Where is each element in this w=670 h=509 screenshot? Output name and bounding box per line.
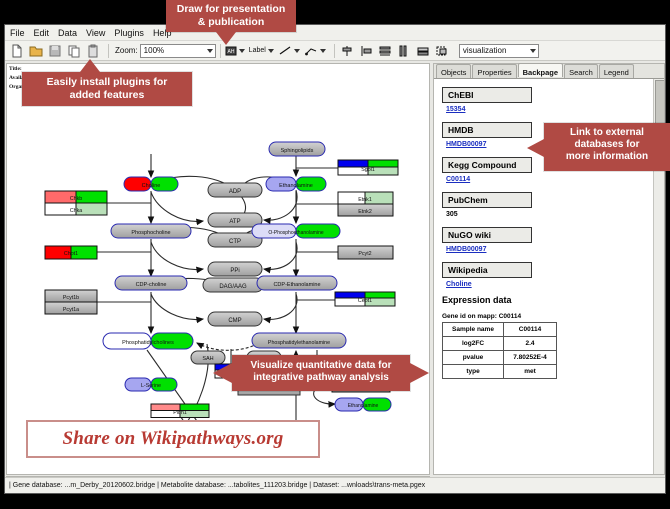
- node-label: PPi: [230, 268, 239, 274]
- node-cdp-ethanolamine: CDP-Ethanolamine: [257, 276, 337, 290]
- menu-item-edit[interactable]: Edit: [34, 28, 50, 38]
- node-pcyt2: Pcyt2: [338, 246, 393, 259]
- node-dag-aag: DAG/AAG: [203, 278, 263, 292]
- expr-value: 2.4: [504, 337, 557, 351]
- status-bar: | Gene database: ...m_Derby_20120602.bri…: [5, 477, 666, 493]
- table-row: type met: [443, 365, 557, 379]
- toolbar-separator: [108, 44, 109, 58]
- toolbar-separator: [220, 44, 221, 58]
- node-cmp: CMP: [208, 312, 262, 326]
- node-label: DAG/AAG: [219, 284, 247, 290]
- label-dropdown[interactable]: Label: [249, 47, 274, 54]
- tab-properties[interactable]: Properties: [472, 64, 516, 78]
- tab-search[interactable]: Search: [564, 64, 598, 78]
- stack-icon[interactable]: [415, 43, 431, 59]
- node-cdp-choline: CDP-choline: [115, 276, 187, 290]
- node-phosphatidylcholines: Phosphatidylcholines: [103, 333, 193, 349]
- pathway-canvas[interactable]: Title: Availa Organ: [6, 63, 430, 475]
- node-label: CDP-choline: [136, 282, 167, 288]
- callout-line-2: databases for: [544, 139, 670, 151]
- interaction-dropdown[interactable]: [304, 45, 326, 57]
- db-link-kegg[interactable]: C00114: [446, 176, 642, 183]
- node-chpt1: Chpt1: [45, 246, 97, 259]
- new-file-icon[interactable]: [9, 43, 25, 59]
- chevron-down-icon: [268, 49, 274, 53]
- node-label: ATP: [229, 219, 240, 225]
- node-pcyt1b: Pcyt1b: [45, 290, 97, 302]
- node-sphingolipids: Sphingolipids: [269, 142, 325, 156]
- align-columns-icon[interactable]: [396, 43, 412, 59]
- node-pcyt1a: Pcyt1a: [45, 302, 97, 314]
- node-label: Chkb: [70, 196, 82, 202]
- visualization-value: visualization: [463, 46, 507, 55]
- node-label: ADP: [229, 189, 241, 195]
- node-sgpl1: Sgpl1: [338, 160, 398, 175]
- canvas-label-title: Title:: [9, 66, 22, 72]
- node-choline-top: Choline: [124, 177, 178, 191]
- interaction-icon: [304, 45, 318, 57]
- chevron-down-icon: [530, 49, 536, 53]
- group-icon[interactable]: [434, 43, 450, 59]
- db-header-hmdb: HMDB: [442, 122, 532, 138]
- node-chkb: Chkb: [45, 191, 107, 203]
- share-banner: Share on Wikipathways.org: [26, 420, 320, 458]
- expression-table: Sample name C00114 log2FC 2.4 pvalue 7.8…: [442, 322, 557, 379]
- node-cept1: Cept1: [335, 292, 395, 306]
- node-label: Pcyt1b: [63, 295, 79, 301]
- node-label: Cept1: [358, 298, 372, 304]
- node-label: O-Phosphoethanolamine: [268, 230, 324, 236]
- visualization-combo[interactable]: visualization: [459, 44, 539, 58]
- node-etnk1: Etnk1: [338, 192, 393, 204]
- node-label: Sgpl1: [361, 167, 375, 173]
- chevron-down-icon: [320, 49, 326, 53]
- expression-data-heading: Expression data: [442, 295, 642, 305]
- svg-text:AH: AH: [227, 49, 234, 55]
- node-label: Etnk2: [358, 209, 372, 215]
- status-text: | Gene database: ...m_Derby_20120602.bri…: [5, 482, 425, 489]
- node-label: Ethanolamine: [348, 403, 379, 409]
- node-label: SAH: [202, 356, 213, 362]
- node-pldn1: Pldn1: [151, 404, 209, 418]
- node-label: Chpt1: [64, 251, 78, 257]
- side-panel-tabs: Objects Properties Backpage Search Legen…: [434, 64, 664, 79]
- db-header-pubchem: PubChem: [442, 192, 532, 208]
- callout-line-1: Visualize quantitative data for: [232, 360, 410, 372]
- node-label: CMP: [228, 318, 241, 324]
- label-dropdown-caption: Label: [249, 47, 266, 54]
- table-row: Sample name C00114: [443, 323, 557, 337]
- node-label: Choline: [142, 183, 161, 189]
- callout-line-2: integrative pathway analysis: [232, 372, 410, 384]
- node-chka: Chka: [45, 203, 107, 215]
- db-link-wikipedia[interactable]: Choline: [446, 281, 642, 288]
- node-label: L-Serine: [141, 383, 161, 389]
- node-etnk2: Etnk2: [338, 204, 393, 216]
- node-ethanolamine-2: Ethanolamine: [335, 398, 391, 411]
- datanode-dropdown[interactable]: AH: [225, 45, 245, 57]
- db-link-chebi[interactable]: 15354: [446, 106, 642, 113]
- tab-legend[interactable]: Legend: [599, 64, 634, 78]
- node-label: Pldn1: [173, 410, 187, 416]
- callout-line-3: more information: [544, 151, 670, 163]
- menu-item-plugins[interactable]: Plugins: [114, 28, 144, 38]
- callout-line-1: Draw for presentation: [166, 3, 296, 16]
- align-center-icon[interactable]: [339, 43, 355, 59]
- table-row: log2FC 2.4: [443, 337, 557, 351]
- toolbar: Zoom: 100% AH Label: [5, 41, 666, 61]
- copy-icon[interactable]: [66, 43, 82, 59]
- callout-visualize-arrow-left: [213, 363, 232, 383]
- db-link-nugo[interactable]: HMDB00097: [446, 246, 642, 253]
- db-header-chebi: ChEBI: [442, 87, 532, 103]
- node-label: Pcyt2: [358, 251, 371, 257]
- callout-line-2: & publication: [166, 16, 296, 29]
- menu-item-data[interactable]: Data: [58, 28, 77, 38]
- node-phosphocholine: Phosphocholine: [111, 224, 191, 238]
- node-label: Ethanolamine: [279, 183, 313, 189]
- callout-link-arrow: [527, 139, 544, 157]
- tab-backpage[interactable]: Backpage: [518, 63, 563, 77]
- node-atp: ATP: [208, 213, 262, 227]
- callout-line-1: Easily install plugins for: [22, 76, 192, 89]
- callout-draw-arrow: [216, 32, 236, 45]
- open-folder-icon[interactable]: [28, 43, 44, 59]
- node-label: Phosphatidylethanolamine: [268, 340, 330, 346]
- menu-item-file[interactable]: File: [10, 28, 25, 38]
- expr-value: C00114: [504, 323, 557, 337]
- expr-value: met: [504, 365, 557, 379]
- node-label: CDP-Ethanolamine: [273, 282, 320, 288]
- callout-draw: Draw for presentation & publication: [166, 0, 296, 32]
- chevron-down-icon: [207, 49, 213, 53]
- align-rows-icon[interactable]: [377, 43, 393, 59]
- callout-line-1: Link to external: [544, 127, 670, 139]
- menu-item-view[interactable]: View: [86, 28, 105, 38]
- align-left-icon[interactable]: [358, 43, 374, 59]
- node-label: Chka: [70, 208, 82, 214]
- callout-visualize: Visualize quantitative data for integrat…: [232, 355, 410, 391]
- chevron-down-icon: [239, 49, 245, 53]
- callout-plugins-arrow: [80, 59, 100, 72]
- table-row: pvalue 7.80252E-4: [443, 351, 557, 365]
- paste-icon[interactable]: [85, 43, 101, 59]
- pathway-diagram[interactable]: ADP ATP CTP PPi DAG/AAG CMP SAH SAM Pisd…: [7, 64, 430, 475]
- menu-bar: File Edit Data View Plugins Help: [5, 25, 666, 41]
- line-icon: [278, 45, 292, 57]
- zoom-value: 100%: [144, 46, 164, 55]
- node-adp: ADP: [208, 183, 262, 197]
- node-phosphatidylethanolamine: Phosphatidylethanolamine: [252, 333, 346, 348]
- node-o-phosphoethanolamine: O-Phosphoethanolamine: [252, 224, 340, 238]
- save-icon[interactable]: [47, 43, 63, 59]
- callout-visualize-arrow-right: [410, 363, 429, 383]
- node-label: Phosphocholine: [131, 230, 170, 236]
- db-header-nugo: NuGO wiki: [442, 227, 532, 243]
- zoom-combo[interactable]: 100%: [140, 44, 216, 58]
- node-ppi: PPi: [208, 262, 262, 276]
- expr-key: Sample name: [443, 323, 504, 337]
- node-label: Etnk1: [358, 197, 372, 203]
- node-label: Sphingolipids: [281, 148, 314, 154]
- chevron-down-icon: [294, 49, 300, 53]
- gene-id-label: Gene id on mapp: C00114: [442, 313, 642, 320]
- tab-objects[interactable]: Objects: [436, 64, 471, 78]
- callout-plugins: Easily install plugins for added feature…: [22, 72, 192, 106]
- db-header-wikipedia: Wikipedia: [442, 262, 532, 278]
- node-label: Pcyt1a: [63, 307, 79, 313]
- line-dropdown[interactable]: [278, 45, 300, 57]
- expr-key: log2FC: [443, 337, 504, 351]
- expr-key: pvalue: [443, 351, 504, 365]
- expr-value: 7.80252E-4: [504, 351, 557, 365]
- db-value-pubchem: 305: [446, 211, 642, 218]
- zoom-label: Zoom:: [115, 46, 138, 55]
- datanode-icon: AH: [225, 45, 237, 57]
- toolbar-separator: [334, 44, 335, 58]
- expr-key: type: [443, 365, 504, 379]
- db-header-kegg: Kegg Compound: [442, 157, 532, 173]
- screenshot-root: Mm_Kennedy_pathway_WP1771_45176.gpml Fil…: [0, 0, 670, 509]
- node-label: CTP: [229, 239, 241, 245]
- node-l-serine-left: L-Serine: [125, 378, 177, 391]
- node-ethanolamine: Ethanolamine: [266, 177, 326, 191]
- callout-line-2: added features: [22, 89, 192, 102]
- callout-link: Link to external databases for more info…: [544, 123, 670, 171]
- node-label: Phosphatidylcholines: [122, 340, 174, 346]
